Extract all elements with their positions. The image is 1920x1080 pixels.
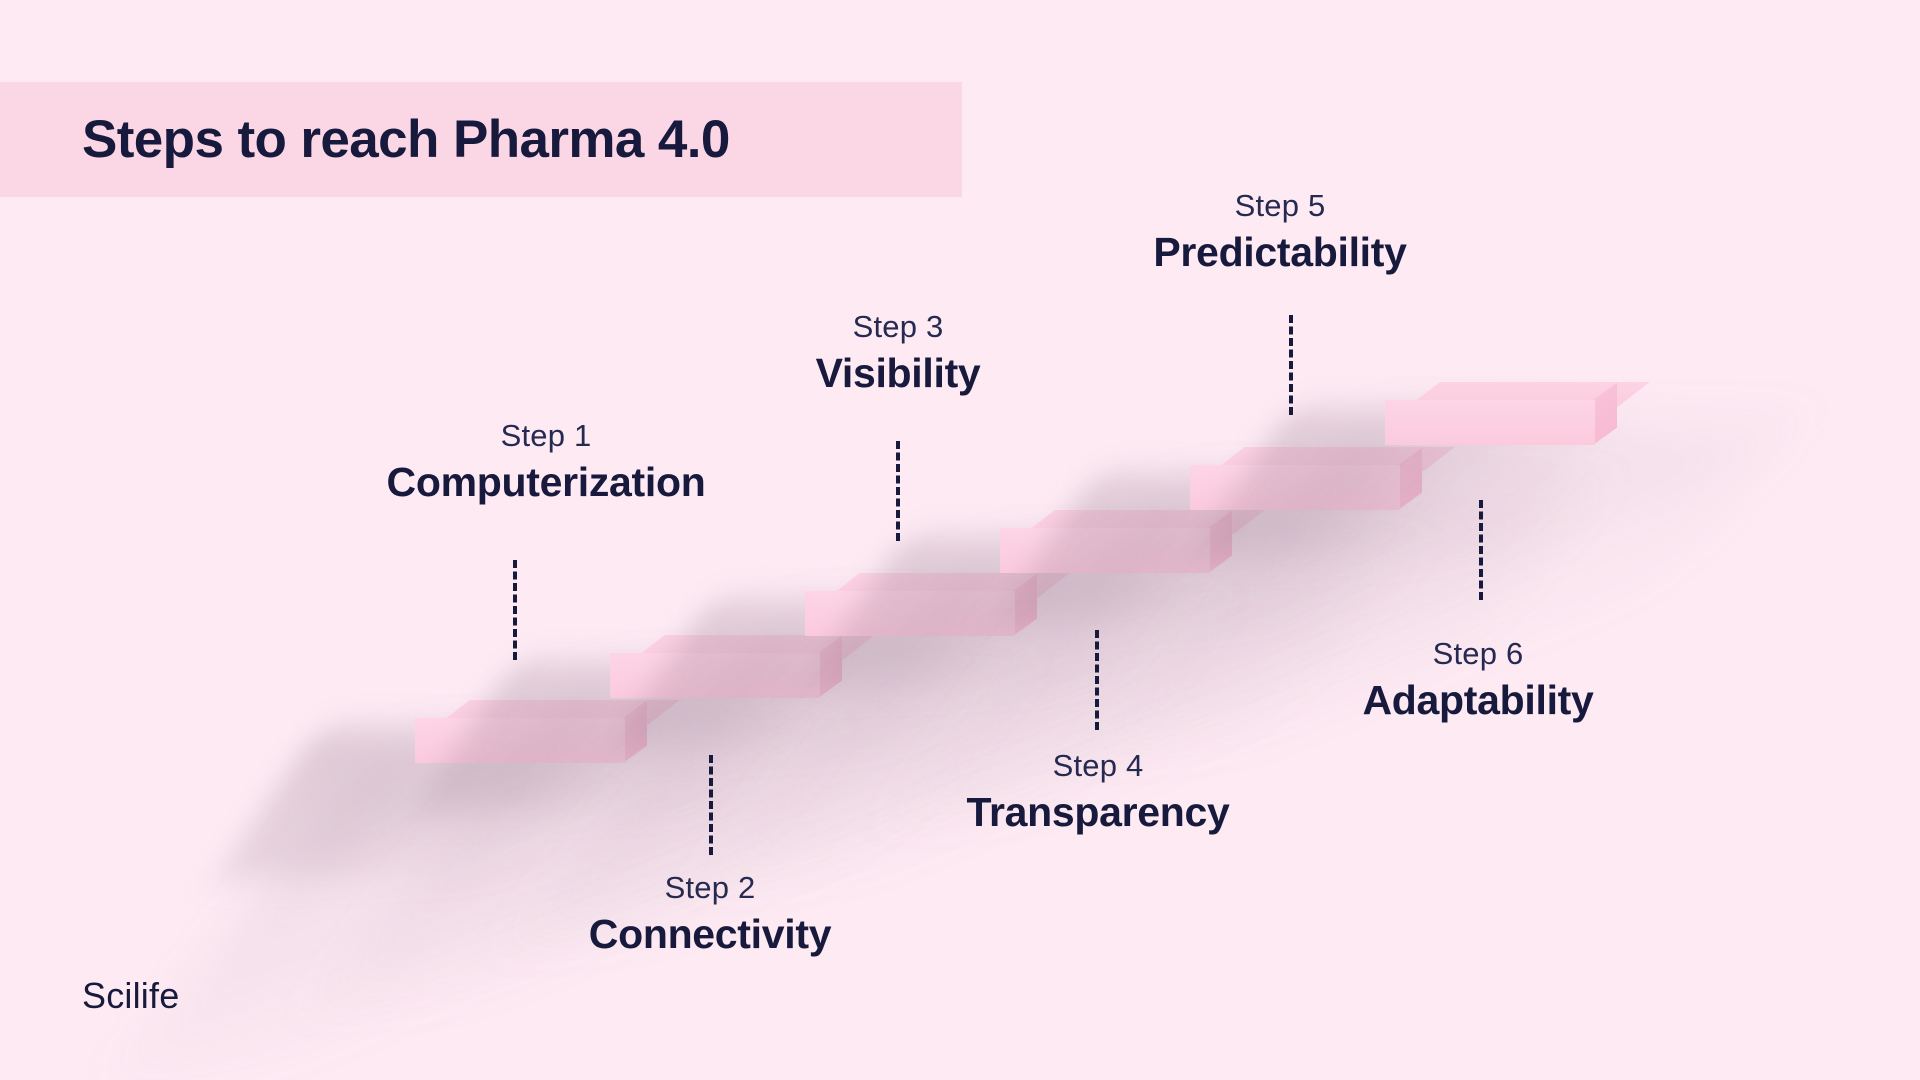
step-name-6: Adaptability <box>1273 680 1683 721</box>
step-number-3: Step 3 <box>693 311 1103 342</box>
brand-logo: Scilife <box>82 975 179 1017</box>
step-connector-4 <box>1095 630 1099 730</box>
step-slab-front-face <box>1190 465 1400 510</box>
step-connector-3 <box>896 441 900 541</box>
step-connector-5 <box>1289 315 1293 415</box>
step-label-2: Step 2Connectivity <box>505 872 915 955</box>
step-name-5: Predictability <box>1075 232 1485 273</box>
step-label-3: Step 3Visibility <box>693 311 1103 394</box>
step-number-2: Step 2 <box>505 872 915 903</box>
step-name-3: Visibility <box>693 353 1103 394</box>
step-slab-front-face <box>610 653 820 698</box>
step-slab-front-face <box>1385 400 1595 445</box>
step-label-4: Step 4Transparency <box>893 750 1303 833</box>
title-banner: Steps to reach Pharma 4.0 <box>0 82 962 197</box>
step-slab-front-face <box>415 718 625 763</box>
step-label-1: Step 1Computerization <box>341 420 751 503</box>
page-title: Steps to reach Pharma 4.0 <box>82 109 730 170</box>
step-slab-front-face <box>1000 528 1210 573</box>
step-label-5: Step 5Predictability <box>1075 190 1485 273</box>
step-number-1: Step 1 <box>341 420 751 451</box>
step-connector-1 <box>513 560 517 660</box>
step-number-5: Step 5 <box>1075 190 1485 221</box>
step-name-2: Connectivity <box>505 914 915 955</box>
step-connector-6 <box>1479 500 1483 600</box>
step-label-6: Step 6Adaptability <box>1273 638 1683 721</box>
step-name-1: Computerization <box>341 462 751 503</box>
step-connector-2 <box>709 755 713 855</box>
step-number-6: Step 6 <box>1273 638 1683 669</box>
step-slab-front-face <box>805 591 1015 636</box>
step-name-4: Transparency <box>893 792 1303 833</box>
step-number-4: Step 4 <box>893 750 1303 781</box>
